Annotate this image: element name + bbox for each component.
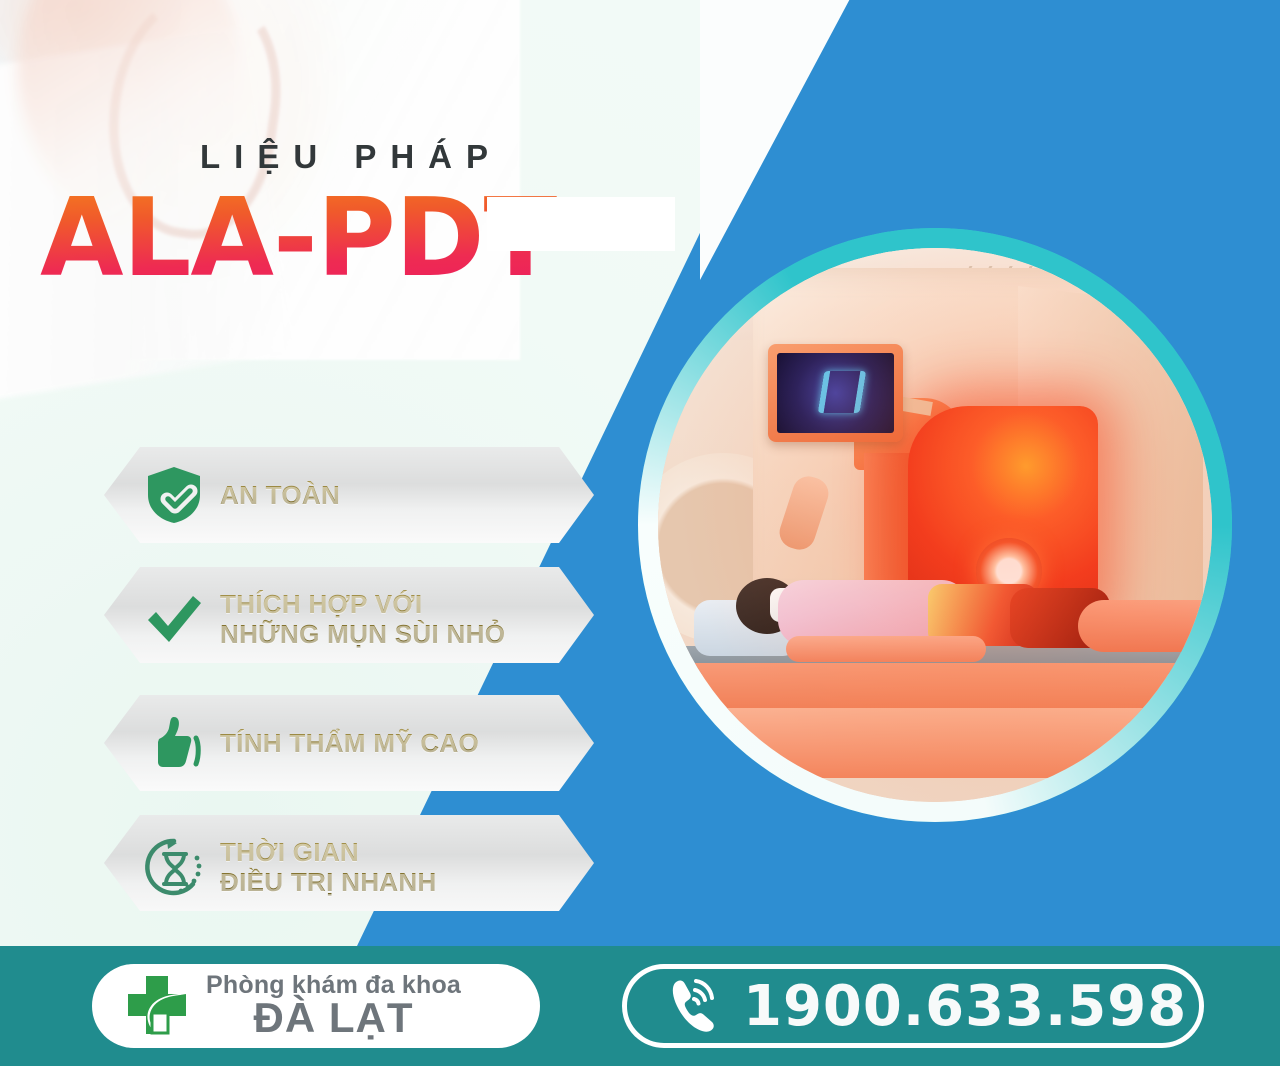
photo-red-glow (658, 248, 1212, 802)
check-mark-icon (104, 590, 220, 648)
thumbs-up-icon (104, 714, 220, 772)
feature-label: THỜI GIAN ĐIỀU TRỊ NHANH (220, 837, 437, 897)
feature-line: THỜI GIAN (220, 837, 437, 867)
feature-item-tham-my[interactable]: TÍNH THẨM MỸ CAO (104, 695, 594, 791)
footer-bar: Phòng khám đa khoa ĐÀ LẠT 1900.633.598 (0, 946, 1280, 1066)
phone-call-icon (663, 975, 721, 1038)
brand-wrap: ALA-PDT (40, 185, 680, 293)
feature-item-thoi-gian[interactable]: THỜI GIAN ĐIỀU TRỊ NHANH (104, 815, 594, 919)
photo-ring (638, 228, 1232, 822)
phone-number: 1900.633.598 (743, 974, 1187, 1039)
treatment-photo (658, 248, 1212, 802)
feature-label: AN TOÀN (220, 480, 340, 510)
clinic-title: ĐÀ LẠT (206, 997, 461, 1040)
phone-button[interactable]: 1900.633.598 (622, 964, 1204, 1048)
kicker-text: LIỆU PHÁP (40, 140, 680, 173)
white-blank-block (487, 197, 675, 251)
clinic-name-block: Phòng khám đa khoa ĐÀ LẠT (206, 972, 461, 1039)
feature-item-an-toan[interactable]: AN TOÀN (104, 447, 594, 543)
feature-item-thich-hop[interactable]: THÍCH HỢP VỚI NHỮNG MỤN SÙI NHỎ (104, 567, 594, 671)
feature-line: ĐIỀU TRỊ NHANH (220, 867, 437, 897)
feature-line: TÍNH THẨM MỸ CAO (220, 728, 479, 758)
feature-line: THÍCH HỢP VỚI (220, 589, 505, 619)
clinic-brand-button[interactable]: Phòng khám đa khoa ĐÀ LẠT (92, 964, 540, 1048)
headline-block: LIỆU PHÁP ALA-PDT (40, 140, 680, 293)
poster-canvas: LIỆU PHÁP ALA-PDT (0, 0, 1280, 1066)
feature-line: NHỮNG MỤN SÙI NHỎ (220, 619, 505, 649)
feature-label: TÍNH THẨM MỸ CAO (220, 728, 479, 758)
green-cross-leaf-logo (118, 972, 196, 1040)
feature-list: AN TOÀN THÍCH HỢP VỚI NHỮNG MỤN SÙI NHỎ (104, 447, 594, 943)
hourglass-clock-icon (104, 836, 220, 898)
feature-line: AN TOÀN (220, 480, 340, 510)
shield-check-icon (104, 465, 220, 525)
feature-label: THÍCH HỢP VỚI NHỮNG MỤN SÙI NHỎ (220, 589, 505, 649)
